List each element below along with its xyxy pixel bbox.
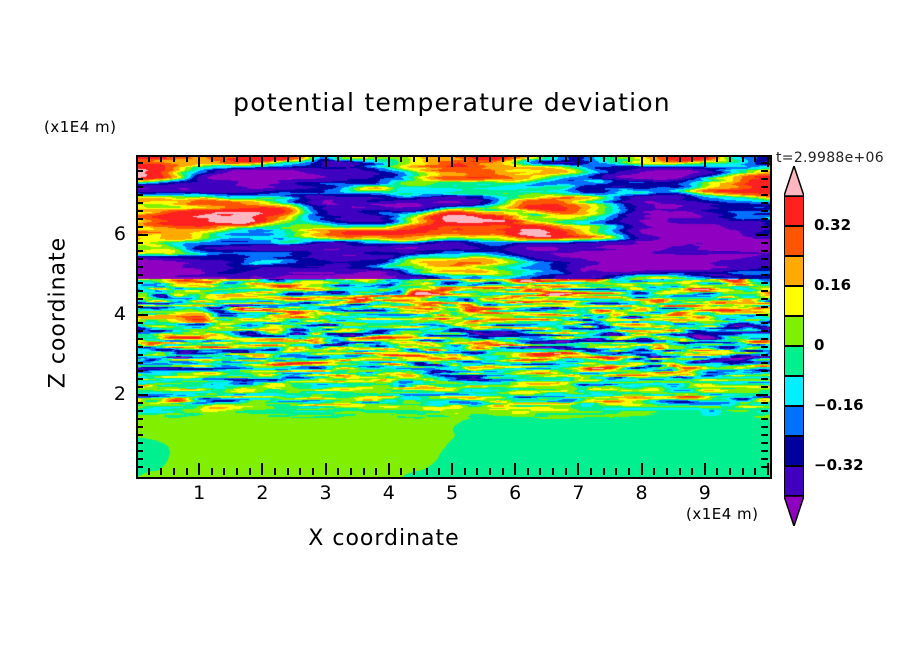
x-tick-minor-top (249, 155, 251, 162)
x-tick-minor-top (489, 155, 491, 162)
y-tick-minor-right (761, 466, 768, 468)
y-tick-minor-right (761, 266, 768, 268)
x-tick-minor-top (148, 155, 150, 162)
x-tick-minor (552, 468, 554, 475)
colorbar-cap-min (784, 496, 804, 526)
y-tick-minor (136, 282, 143, 284)
x-tick-minor-top (615, 155, 617, 162)
x-tick-label: 9 (685, 482, 725, 504)
y-tick-minor-right (761, 178, 768, 180)
y-tick-minor (136, 178, 143, 180)
x-tick-minor-top (565, 155, 567, 162)
x-tick-minor-top (691, 155, 693, 162)
x-tick-minor (502, 468, 504, 475)
x-tick-minor-top (716, 155, 718, 162)
colorbar-tick-label: −0.16 (814, 396, 864, 414)
x-tick-major (704, 463, 706, 475)
y-tick-minor (136, 426, 143, 428)
y-tick-minor-right (761, 418, 768, 420)
y-tick-minor (136, 362, 143, 364)
x-tick-minor-top (426, 155, 428, 162)
y-tick-minor-right (761, 458, 768, 460)
x-tick-minor-top (742, 155, 744, 162)
y-tick-minor (136, 330, 143, 332)
x-tick-minor-top (413, 155, 415, 162)
y-tick-label: 2 (100, 383, 126, 405)
x-tick-minor (249, 468, 251, 475)
colorbar-band (784, 436, 804, 466)
x-tick-label: 2 (242, 482, 282, 504)
x-tick-minor (527, 468, 529, 475)
colorbar-tick-label: 0.32 (814, 216, 851, 234)
x-tick-minor-top (211, 155, 213, 162)
y-tick-minor-right (761, 250, 768, 252)
y-axis-unit-label: (x1E4 m) (44, 118, 117, 136)
y-axis-label: Z coordinate (46, 193, 71, 433)
x-tick-minor-top (186, 155, 188, 162)
y-tick-minor (136, 402, 143, 404)
y-tick-minor (136, 194, 143, 196)
x-tick-minor (236, 468, 238, 475)
y-tick-minor (136, 386, 143, 388)
y-tick-minor (136, 170, 143, 172)
y-tick-minor (136, 306, 143, 308)
x-tick-minor (615, 468, 617, 475)
x-tick-minor-top (236, 155, 238, 162)
y-tick-minor (136, 162, 143, 164)
x-tick-major (767, 463, 769, 475)
x-tick-minor-top (274, 155, 276, 162)
y-tick-minor (136, 298, 143, 300)
x-tick-minor (438, 468, 440, 475)
y-tick-minor (136, 418, 143, 420)
x-tick-major-top (261, 155, 263, 167)
y-tick-minor (136, 322, 143, 324)
x-tick-minor (173, 468, 175, 475)
y-tick-minor-right (761, 194, 768, 196)
x-tick-minor (691, 468, 693, 475)
x-tick-major-top (514, 155, 516, 167)
y-tick-minor (136, 258, 143, 260)
x-tick-minor (350, 468, 352, 475)
y-tick-minor (136, 274, 143, 276)
figure-canvas: potential temperature deviation (x1E4 m)… (0, 0, 904, 654)
x-tick-minor-top (754, 155, 756, 162)
x-tick-minor (603, 468, 605, 475)
y-tick-minor (136, 202, 143, 204)
y-tick-minor (136, 458, 143, 460)
chart-title: potential temperature deviation (0, 88, 904, 117)
colorbar: 0.320.160−0.16−0.32 (784, 196, 804, 496)
y-tick-minor (136, 370, 143, 372)
x-tick-label: 4 (369, 482, 409, 504)
x-tick-minor (223, 468, 225, 475)
x-tick-major-top (704, 155, 706, 167)
x-tick-minor-top (375, 155, 377, 162)
y-tick-minor (136, 466, 143, 468)
x-tick-minor-top (552, 155, 554, 162)
x-tick-minor (400, 468, 402, 475)
colorbar-band (784, 196, 804, 226)
x-tick-minor (312, 468, 314, 475)
colorbar-band (784, 346, 804, 376)
x-tick-minor-top (653, 155, 655, 162)
y-tick-minor-right (761, 218, 768, 220)
x-tick-minor (186, 468, 188, 475)
y-tick-major (136, 314, 148, 316)
colorbar-band (784, 466, 804, 496)
colorbar-tick-label: −0.32 (814, 456, 864, 474)
x-tick-major-top (388, 155, 390, 167)
colorbar-tick-label: 0 (814, 336, 824, 354)
y-tick-minor-right (761, 202, 768, 204)
x-tick-minor (464, 468, 466, 475)
y-tick-minor-right (761, 386, 768, 388)
y-tick-minor (136, 226, 143, 228)
y-tick-major (136, 394, 148, 396)
y-tick-minor (136, 442, 143, 444)
colorbar-band (784, 226, 804, 256)
y-tick-minor (136, 290, 143, 292)
x-tick-minor-top (502, 155, 504, 162)
x-tick-label: 6 (495, 482, 535, 504)
y-tick-minor-right (761, 402, 768, 404)
y-tick-minor-right (761, 290, 768, 292)
y-tick-major (136, 234, 148, 236)
x-tick-minor-top (350, 155, 352, 162)
y-tick-minor-right (761, 274, 768, 276)
y-tick-minor-right (761, 346, 768, 348)
x-tick-minor-top (628, 155, 630, 162)
y-tick-minor-right (761, 330, 768, 332)
x-tick-major (198, 463, 200, 475)
y-tick-minor-right (761, 226, 768, 228)
y-tick-major-right (756, 314, 768, 316)
y-tick-minor-right (761, 170, 768, 172)
y-tick-minor-right (761, 210, 768, 212)
y-tick-minor (136, 242, 143, 244)
y-tick-minor (136, 434, 143, 436)
x-tick-minor (590, 468, 592, 475)
x-tick-minor (211, 468, 213, 475)
x-tick-minor (679, 468, 681, 475)
x-tick-minor-top (287, 155, 289, 162)
x-tick-minor (160, 468, 162, 475)
y-tick-minor-right (761, 298, 768, 300)
x-tick-minor-top (679, 155, 681, 162)
x-tick-minor-top (464, 155, 466, 162)
time-annotation: t=2.9988e+06 (776, 150, 884, 166)
x-tick-minor (337, 468, 339, 475)
x-tick-minor (413, 468, 415, 475)
y-tick-minor-right (761, 258, 768, 260)
y-tick-minor (136, 338, 143, 340)
x-tick-minor-top (590, 155, 592, 162)
x-tick-minor-top (337, 155, 339, 162)
y-tick-label: 6 (100, 223, 126, 245)
x-axis-label: X coordinate (0, 526, 768, 551)
x-tick-minor (375, 468, 377, 475)
y-tick-minor-right (761, 354, 768, 356)
y-tick-minor-right (761, 450, 768, 452)
x-tick-minor-top (527, 155, 529, 162)
x-tick-major (325, 463, 327, 475)
x-tick-minor-top (299, 155, 301, 162)
x-tick-minor (148, 468, 150, 475)
x-tick-major-top (767, 155, 769, 167)
y-tick-minor (136, 186, 143, 188)
x-tick-minor-top (312, 155, 314, 162)
y-tick-minor (136, 346, 143, 348)
x-tick-minor (426, 468, 428, 475)
y-tick-minor (136, 250, 143, 252)
y-tick-minor-right (761, 426, 768, 428)
x-tick-major-top (451, 155, 453, 167)
x-tick-major (451, 463, 453, 475)
temperature-deviation-field (138, 157, 770, 477)
y-tick-label: 4 (100, 303, 126, 325)
x-tick-minor (653, 468, 655, 475)
x-tick-minor (274, 468, 276, 475)
x-tick-minor-top (223, 155, 225, 162)
x-tick-minor-top (603, 155, 605, 162)
y-tick-minor (136, 410, 143, 412)
contour-plot-area (136, 155, 772, 479)
y-tick-minor (136, 378, 143, 380)
x-tick-minor-top (173, 155, 175, 162)
x-tick-minor-top (539, 155, 541, 162)
x-tick-minor (716, 468, 718, 475)
y-tick-minor-right (761, 370, 768, 372)
x-tick-minor-top (729, 155, 731, 162)
x-tick-minor-top (476, 155, 478, 162)
y-tick-minor-right (761, 186, 768, 188)
y-tick-minor (136, 210, 143, 212)
y-tick-minor-right (761, 162, 768, 164)
x-tick-major (261, 463, 263, 475)
x-tick-minor-top (400, 155, 402, 162)
y-tick-minor (136, 266, 143, 268)
y-tick-minor-right (761, 306, 768, 308)
x-tick-label: 5 (432, 482, 472, 504)
y-tick-minor-right (761, 410, 768, 412)
y-tick-minor-right (761, 434, 768, 436)
x-tick-major-top (641, 155, 643, 167)
y-tick-minor-right (761, 378, 768, 380)
x-tick-label: 8 (622, 482, 662, 504)
x-tick-minor (489, 468, 491, 475)
x-tick-minor (287, 468, 289, 475)
x-tick-major (388, 463, 390, 475)
x-axis-unit-label: (x1E4 m) (686, 505, 759, 523)
x-tick-minor (363, 468, 365, 475)
y-tick-minor (136, 218, 143, 220)
x-tick-minor (299, 468, 301, 475)
x-tick-minor-top (363, 155, 365, 162)
y-tick-major-right (756, 394, 768, 396)
y-tick-major-right (756, 234, 768, 236)
x-tick-minor (754, 468, 756, 475)
x-tick-minor-top (438, 155, 440, 162)
x-tick-major (577, 463, 579, 475)
y-tick-minor-right (761, 338, 768, 340)
x-tick-minor-top (160, 155, 162, 162)
x-tick-minor (628, 468, 630, 475)
colorbar-band (784, 316, 804, 346)
colorbar-band (784, 406, 804, 436)
x-tick-major-top (325, 155, 327, 167)
y-tick-minor-right (761, 362, 768, 364)
x-tick-minor (476, 468, 478, 475)
y-tick-minor-right (761, 242, 768, 244)
x-tick-minor (565, 468, 567, 475)
y-tick-minor-right (761, 442, 768, 444)
x-tick-label: 1 (179, 482, 219, 504)
y-tick-minor-right (761, 322, 768, 324)
x-tick-major (514, 463, 516, 475)
x-tick-minor (729, 468, 731, 475)
x-tick-label: 7 (558, 482, 598, 504)
colorbar-tick-label: 0.16 (814, 276, 851, 294)
x-tick-minor (666, 468, 668, 475)
colorbar-band (784, 256, 804, 286)
x-tick-minor-top (666, 155, 668, 162)
x-tick-major (641, 463, 643, 475)
x-tick-minor (742, 468, 744, 475)
y-tick-minor (136, 354, 143, 356)
x-tick-label: 3 (306, 482, 346, 504)
y-tick-minor (136, 450, 143, 452)
colorbar-band (784, 376, 804, 406)
x-tick-major-top (577, 155, 579, 167)
colorbar-cap-max (784, 166, 804, 196)
colorbar-band (784, 286, 804, 316)
x-tick-minor (539, 468, 541, 475)
x-tick-major-top (198, 155, 200, 167)
y-tick-minor-right (761, 282, 768, 284)
